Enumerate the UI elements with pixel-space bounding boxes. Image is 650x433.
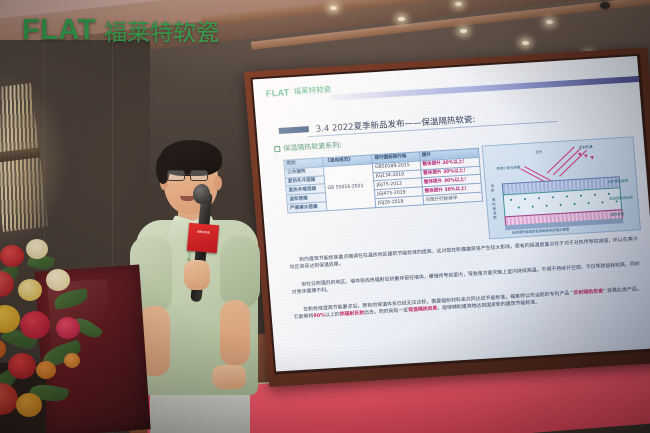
speaker-ear xyxy=(214,176,222,190)
rose-orange xyxy=(16,393,42,417)
slide-title-row: 3.4 2022夏季新品发布——保温隔热软瓷: xyxy=(278,104,627,137)
diagram-side-label-mid: 隔 热 保 温 层 xyxy=(491,198,498,220)
downlight-icon xyxy=(546,20,553,24)
rose-red xyxy=(0,245,24,267)
banner-logo-latin: FLAT xyxy=(22,16,96,45)
flower-arrangement xyxy=(0,235,119,433)
slide-bullet-label: 保温隔热软瓷系列: xyxy=(283,140,342,154)
presentation-slide[interactable]: FLAT 福莱特软瓷 3.4 2022夏季新品发布——保温隔热软瓷: 保温隔热软… xyxy=(253,56,650,372)
cell-category: 严寒寒冷居建 xyxy=(287,202,327,213)
reflective-insulation-diagram: 日光 反射热量 吸收少部分热量 xyxy=(482,136,641,239)
square-bullet-icon xyxy=(274,146,280,152)
diagram-side-label-top: 反 射 xyxy=(490,184,496,192)
slide-logo-chinese: 福莱特软瓷 xyxy=(293,84,331,97)
diagram-label-layer-bottom: 建筑基层 xyxy=(610,211,624,217)
cell-general-spec: GB 55016-2021 xyxy=(323,164,376,211)
cell-standard: JGJ26-2018 xyxy=(375,196,423,208)
microphone-flag-badge: 福莱特软瓷 xyxy=(187,223,219,254)
rose-yellow xyxy=(0,305,20,333)
ceiling-fixture-icon xyxy=(600,2,610,9)
diagram-label-layer-top: 反射隔热面层 xyxy=(608,178,629,184)
slide-logo: FLAT 福莱特软瓷 xyxy=(265,84,331,99)
downlight-icon xyxy=(460,29,467,33)
rose-pink xyxy=(20,311,50,339)
speaker-hand-holding-mic xyxy=(184,260,210,290)
rose-orange xyxy=(0,339,6,359)
projection-screen[interactable]: FLAT 福莱特软瓷 3.4 2022夏季新品发布——保温隔热软瓷: 保温隔热软… xyxy=(244,47,650,387)
venue-banner-logo: FLAT 福莱特软瓷 xyxy=(22,16,219,45)
rose-cream xyxy=(46,269,70,291)
microphone-flag-text: 福莱特软瓷 xyxy=(190,230,216,236)
eyeglasses-bridge xyxy=(183,174,190,175)
downlight-icon xyxy=(455,2,462,6)
title-marker xyxy=(279,126,309,134)
rose-cream xyxy=(26,239,48,259)
rose-pink xyxy=(56,317,80,339)
rose-red xyxy=(8,353,36,379)
slide-logo-latin: FLAT xyxy=(265,87,290,98)
rose-yellow xyxy=(18,279,42,301)
eyeglasses-right-lens-icon xyxy=(190,170,208,181)
rose-red xyxy=(0,383,18,415)
downlight-icon xyxy=(398,17,405,21)
speaker-hand-holding-clicker xyxy=(212,365,246,389)
photo-scene: FLAT 福莱特软瓷 3.4 2022夏季新品发布——保温隔热软瓷: 保温隔热软… xyxy=(0,0,650,433)
eyeglasses-left-lens-icon xyxy=(167,170,185,181)
standards-table: 类别 《通用规范》 现行国标和行标 提升 公共建筑 GB 55016-2021 … xyxy=(283,148,483,214)
slide-header-bar xyxy=(331,76,639,101)
rose-orange xyxy=(36,361,56,379)
rose-bud xyxy=(64,353,80,368)
downlight-icon xyxy=(330,6,337,10)
slide-bullet: 保温隔热软瓷系列: xyxy=(274,140,342,154)
downlight-icon xyxy=(522,41,529,45)
diagram-label-sun: 日光 xyxy=(535,149,542,154)
speaker-right-arm xyxy=(220,300,250,366)
banner-logo-chinese: 福莱特软瓷 xyxy=(104,22,219,45)
speaker-right-sleeve xyxy=(220,236,260,308)
diagram-label-absorb: 吸收少部分热量 xyxy=(496,164,520,170)
diagram-label-layer-mid: 软瓷隔热保温层 xyxy=(609,194,633,200)
